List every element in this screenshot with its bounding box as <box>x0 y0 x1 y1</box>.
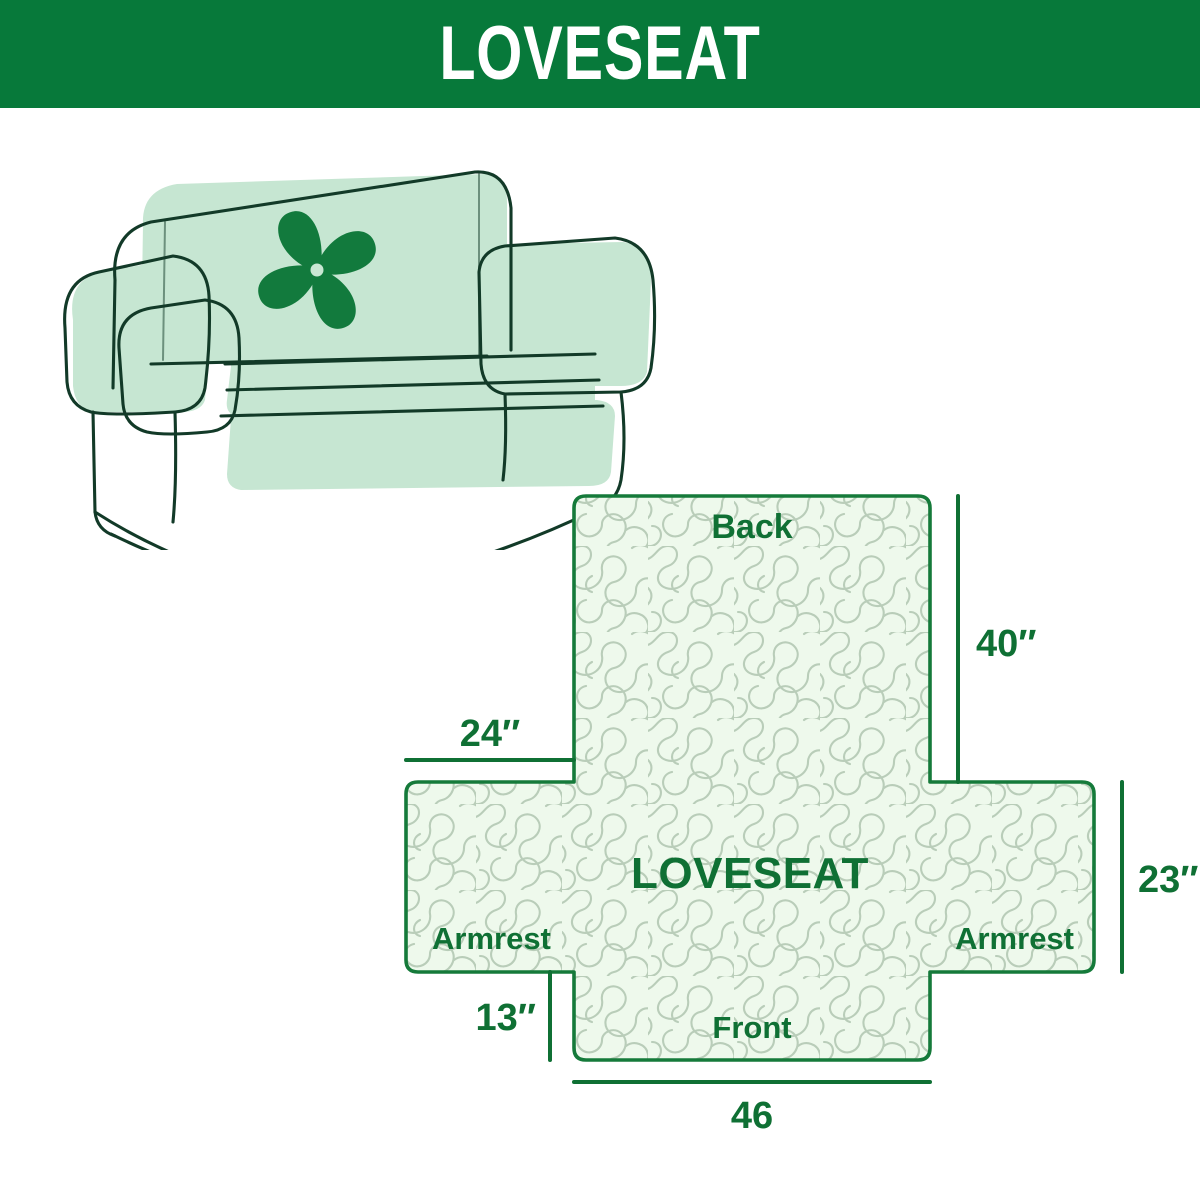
dimension-value-40: 40″ <box>976 623 1036 665</box>
cover-cross-shape <box>406 496 1094 1060</box>
dimension-armrest-width: 24″ <box>406 713 574 760</box>
header-band: LOVESEAT <box>0 0 1200 108</box>
dimension-back-height: 40″ <box>958 496 1036 782</box>
section-label-armrest-left: Armrest <box>432 921 551 956</box>
dimension-value-13: 13″ <box>476 997 536 1039</box>
section-label-armrest-right: Armrest <box>955 921 1074 956</box>
section-label-center: LOVESEAT <box>631 849 869 898</box>
dimension-value-24: 24″ <box>460 713 520 755</box>
dimension-value-46: 46 <box>731 1095 773 1137</box>
section-label-back: Back <box>711 508 792 546</box>
dimension-armrest-height: 23″ <box>1122 782 1198 972</box>
dimension-seat-width: 46 <box>574 1082 930 1137</box>
section-label-front: Front <box>712 1010 791 1045</box>
dimension-value-23: 23″ <box>1138 859 1198 901</box>
dimension-front-height: 13″ <box>476 972 550 1060</box>
cover-layout-diagram: Back LOVESEAT Armrest Armrest Front 40″ … <box>390 460 1200 1150</box>
page-title: LOVESEAT <box>439 16 760 92</box>
